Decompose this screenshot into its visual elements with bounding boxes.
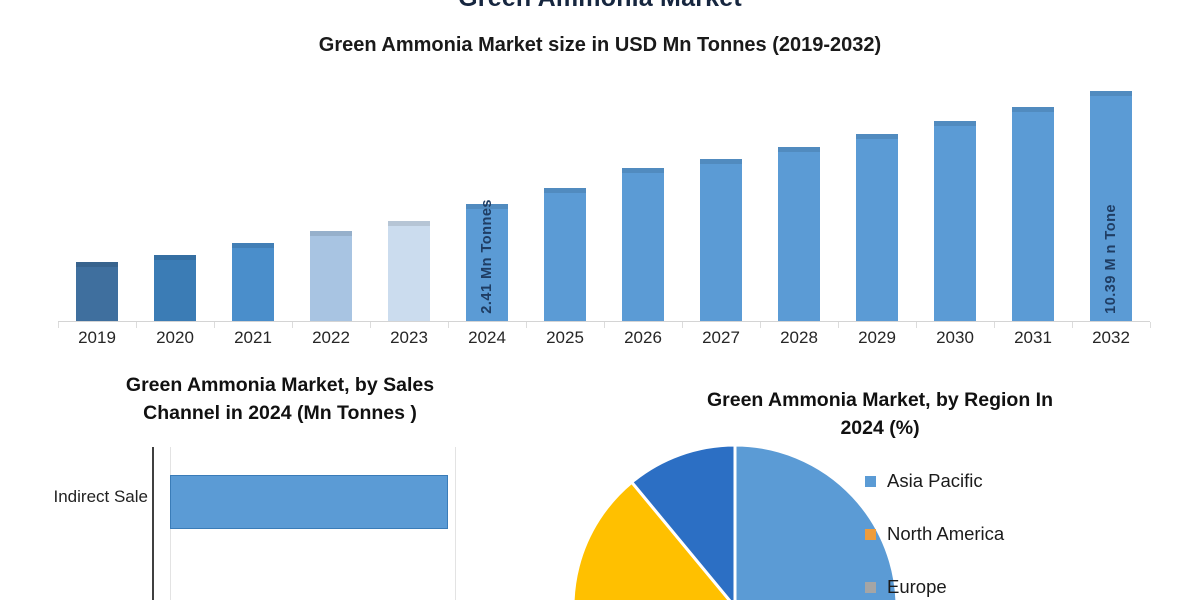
bar-chart-title: Green Ammonia Market size in USD Mn Tonn… <box>0 34 1200 57</box>
x-axis-label: 2026 <box>604 328 682 348</box>
bar-top-shade <box>1090 91 1132 96</box>
legend-item: North America <box>865 523 1195 545</box>
legend-swatch-icon <box>865 582 876 593</box>
y-axis-line <box>152 447 154 600</box>
bar <box>622 168 664 322</box>
bar <box>934 121 976 322</box>
bar-value-label: 2.41 Mn Tonnes <box>479 199 495 314</box>
bar-cell <box>370 62 448 322</box>
legend-label: Asia Pacific <box>887 470 983 492</box>
bar: 2.41 Mn Tonnes <box>466 204 508 322</box>
bar-top-shade <box>700 159 742 164</box>
x-axis-label: 2022 <box>292 328 370 348</box>
bar-value-label-wrap: 10.39 M n Tone <box>1090 91 1132 322</box>
bar <box>388 221 430 322</box>
sales-channel-title-line2: Channel in 2024 (Mn Tonnes ) <box>143 402 417 424</box>
bar: 10.39 M n Tone <box>1090 91 1132 322</box>
market-size-bar-chart: Green Ammonia Market size in USD Mn Tonn… <box>0 22 1200 342</box>
gridline <box>455 447 456 600</box>
bar <box>544 188 586 322</box>
sales-channel-chart: Green Ammonia Market, by Sales Channel i… <box>0 365 560 600</box>
bar-cell <box>526 62 604 322</box>
x-axis-label: 2025 <box>526 328 604 348</box>
x-axis-label: 2027 <box>682 328 760 348</box>
legend-label: North America <box>887 523 1004 545</box>
bar <box>310 231 352 322</box>
pie-slices <box>570 442 900 600</box>
bar <box>1012 107 1054 322</box>
bar-cell: 10.39 M n Tone <box>1072 62 1150 322</box>
x-axis-labels: 2019202020212022202320242025202620272028… <box>58 328 1150 348</box>
bar <box>700 159 742 322</box>
sales-channel-title: Green Ammonia Market, by Sales Channel i… <box>30 371 530 428</box>
legend-item: Asia Pacific <box>865 470 1195 492</box>
legend-item: Europe <box>865 576 1195 598</box>
x-axis-label: 2023 <box>370 328 448 348</box>
region-pie-chart: Green Ammonia Market, by Region In 2024 … <box>560 380 1200 600</box>
bar-top-shade <box>1012 107 1054 112</box>
legend-label: Europe <box>887 576 947 598</box>
legend-swatch-icon <box>865 476 876 487</box>
bar-top-shade <box>76 262 118 267</box>
bar-cell <box>214 62 292 322</box>
bar-cell <box>760 62 838 322</box>
infographic-canvas: Green Ammonia Market Green Ammonia Marke… <box>0 0 1200 600</box>
bar-cell: 2.41 Mn Tonnes <box>448 62 526 322</box>
region-title-line2: 2024 (%) <box>840 417 919 439</box>
x-axis-label: 2020 <box>136 328 214 348</box>
bar-cell <box>58 62 136 322</box>
region-chart-title: Green Ammonia Market, by Region In 2024 … <box>600 386 1160 443</box>
x-axis-label: 2024 <box>448 328 526 348</box>
bar-value-label-wrap: 2.41 Mn Tonnes <box>466 204 508 322</box>
bar <box>856 134 898 322</box>
page-title: Green Ammonia Market <box>0 0 1200 13</box>
bar-value-label: 10.39 M n Tone <box>1103 204 1119 314</box>
bar-top-shade <box>934 121 976 126</box>
x-axis-label: 2021 <box>214 328 292 348</box>
bar-top-shade <box>544 188 586 193</box>
legend-swatch-icon <box>865 529 876 540</box>
bar-cell <box>136 62 214 322</box>
x-axis-label: 2029 <box>838 328 916 348</box>
bar-top-shade <box>232 243 274 248</box>
bar-top-shade <box>388 221 430 226</box>
bar <box>778 147 820 322</box>
bar-top-shade <box>622 168 664 173</box>
bar-top-shade <box>466 204 508 209</box>
x-axis-tick <box>1150 322 1151 328</box>
sales-channel-category-label: Indirect Sale <box>8 487 148 507</box>
bar-cell <box>994 62 1072 322</box>
bar-cell <box>292 62 370 322</box>
pie-graphic-wrap <box>570 442 900 600</box>
bar-cell <box>682 62 760 322</box>
x-axis-label: 2019 <box>58 328 136 348</box>
x-axis-label: 2030 <box>916 328 994 348</box>
x-axis-label: 2028 <box>760 328 838 348</box>
bar-cell <box>604 62 682 322</box>
bar-series: 2.41 Mn Tonnes10.39 M n Tone <box>58 62 1150 322</box>
bar-top-shade <box>310 231 352 236</box>
bar-top-shade <box>856 134 898 139</box>
bar-cell <box>916 62 994 322</box>
bar <box>154 255 196 322</box>
bar-top-shade <box>154 255 196 260</box>
x-axis-label: 2032 <box>1072 328 1150 348</box>
bar <box>232 243 274 322</box>
region-title-line1: Green Ammonia Market, by Region In <box>707 389 1053 411</box>
sales-channel-bar <box>170 475 448 529</box>
x-axis-label: 2031 <box>994 328 1072 348</box>
pie-legend: Asia PacificNorth AmericaEurope <box>865 470 1195 600</box>
bar <box>76 262 118 322</box>
bar-top-shade <box>778 147 820 152</box>
bar-cell <box>838 62 916 322</box>
sales-channel-title-line1: Green Ammonia Market, by Sales <box>126 374 434 396</box>
sales-channel-plot: Indirect Sale <box>0 447 560 600</box>
